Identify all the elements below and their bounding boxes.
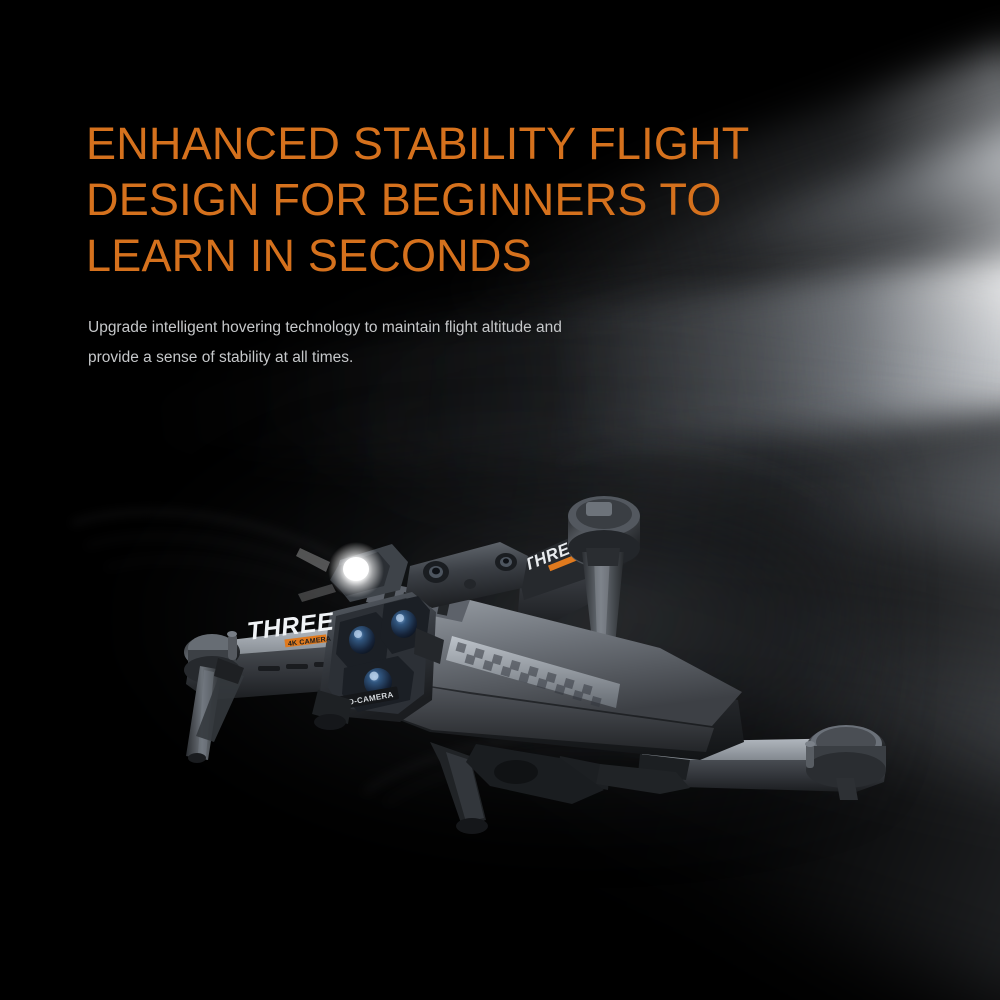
- subtitle-line-2: provide a sense of stability at all time…: [88, 343, 688, 373]
- headline-line-1: ENHANCED STABILITY FLIGHT: [86, 116, 846, 172]
- headline-line-2: DESIGN FOR BEGINNERS TO: [86, 172, 846, 228]
- product-banner: ENHANCED STABILITY FLIGHT DESIGN FOR BEG…: [0, 0, 1000, 1000]
- headline-line-3: LEARN IN SECONDS: [86, 228, 846, 284]
- subtitle-line-1: Upgrade intelligent hovering technology …: [88, 313, 688, 343]
- headline: ENHANCED STABILITY FLIGHT DESIGN FOR BEG…: [86, 116, 846, 284]
- subtitle: Upgrade intelligent hovering technology …: [88, 313, 688, 373]
- background-haze: [120, 430, 880, 850]
